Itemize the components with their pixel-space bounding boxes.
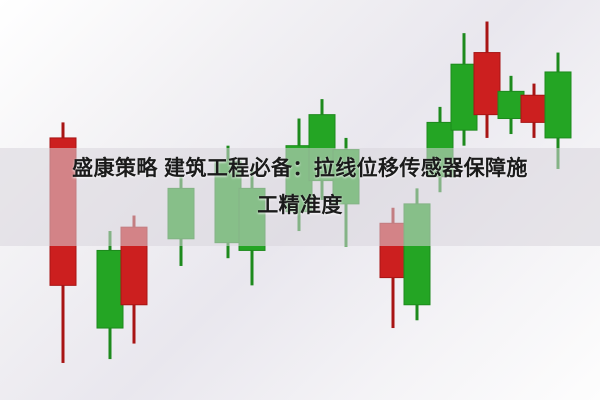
candle-body	[521, 95, 547, 122]
candle-body	[97, 250, 123, 328]
candle	[451, 33, 477, 146]
caption-line-1: 盛康策略 建筑工程必备：拉线位移传感器保障施	[0, 150, 600, 187]
candle-body	[474, 53, 500, 115]
caption-text: 盛康策略 建筑工程必备：拉线位移传感器保障施 工精准度	[0, 150, 600, 224]
candle	[474, 22, 500, 138]
caption-line-2: 工精准度	[0, 187, 600, 224]
chart-image: 盛康策略 建筑工程必备：拉线位移传感器保障施 工精准度	[0, 0, 600, 400]
candle-body	[498, 91, 524, 118]
candle	[521, 84, 547, 138]
candle	[498, 76, 524, 134]
candle	[97, 231, 123, 359]
candle-body	[451, 64, 477, 130]
candle-body	[545, 72, 571, 138]
